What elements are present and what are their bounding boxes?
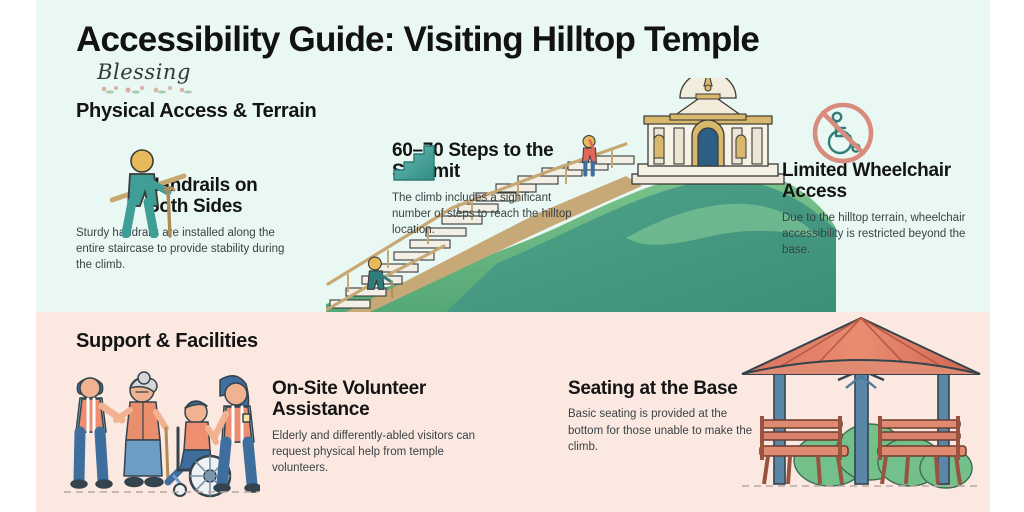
card-wheelchair-title: Limited Wheelchair Access [782, 160, 972, 203]
card-seating-title: Seating at the Base [568, 378, 758, 399]
no-wheelchair-icon [812, 102, 874, 164]
gazebo-with-benches-illustration [738, 312, 986, 494]
card-wheelchair-body: Due to the hilltop terrain, wheelchair a… [782, 210, 972, 259]
card-wheelchair: Limited Wheelchair Access Due to the hil… [782, 160, 972, 259]
infographic-canvas: Accessibility Guide: Visiting Hilltop Te… [0, 0, 1024, 512]
card-volunteer-body: Elderly and differently-abled visitors c… [272, 428, 497, 477]
stairs-icon [392, 140, 436, 182]
card-seating-body: Basic seating is provided at the bottom … [568, 406, 758, 455]
card-volunteer-title: On-Site Volunteer Assistance [272, 378, 497, 421]
person-with-cane-icon [110, 148, 188, 238]
card-steps-body: The climb includes a significant number … [392, 190, 572, 239]
card-volunteer: On-Site Volunteer Assistance Elderly and… [272, 378, 497, 477]
section-heading-physical-access: Physical Access & Terrain [76, 100, 316, 123]
volunteers-assisting-visitors-illustration [60, 358, 260, 508]
card-seating: Seating at the Base Basic seating is pro… [568, 378, 758, 455]
page-title: Accessibility Guide: Visiting Hilltop Te… [76, 20, 759, 60]
section-heading-support-facilities: Support & Facilities [76, 330, 258, 353]
